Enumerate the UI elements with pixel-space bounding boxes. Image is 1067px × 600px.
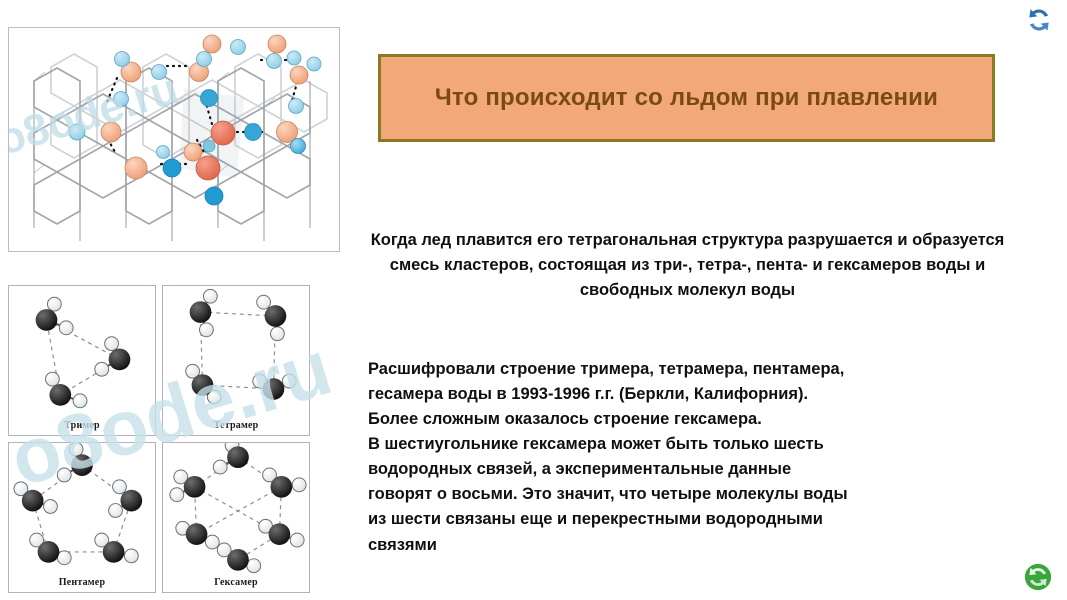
details-line: связями (368, 533, 1008, 558)
cluster-caption-hexamer: Гексамер (163, 577, 309, 588)
details-line: говорят о восьми. Это значит, что четыре… (368, 482, 1008, 507)
cluster-caption-trimer: Тример (9, 420, 155, 431)
water-cluster-grid: Тример (8, 285, 310, 593)
details-line: Расшифровали строение тримера, тетрамера… (368, 357, 1008, 382)
sync-icon[interactable] (1023, 4, 1055, 36)
cluster-panel-hexamer: Гексамер (162, 442, 310, 593)
cluster-panel-trimer: Тример (8, 285, 156, 436)
tetramer-diagram (163, 286, 309, 417)
intro-paragraph: Когда лед плавится его тетрагональная ст… (365, 228, 1010, 302)
cluster-panel-tetramer: Тетрамер (162, 285, 310, 436)
details-line: гесамера воды в 1993-1996 г.г. (Беркли, … (368, 382, 1008, 407)
cluster-caption-pentamer: Пентамер (9, 577, 155, 588)
ice-lattice-figure: o8ode.ru (8, 27, 340, 252)
page-title: Что происходит со льдом при плавлении (435, 85, 938, 111)
title-banner: Что происходит со льдом при плавлении (378, 54, 995, 142)
details-line: водородных связей, а экспериментальные д… (368, 457, 1008, 482)
ice-lattice-svg (9, 28, 339, 251)
details-line: Более сложным оказалось строение гексаме… (368, 407, 1008, 432)
recycle-icon[interactable] (1023, 562, 1053, 592)
cluster-caption-tetramer: Тетрамер (163, 420, 309, 431)
details-line: В шестиугольнике гексамера может быть то… (368, 432, 1008, 457)
details-paragraph: Расшифровали строение тримера, тетрамера… (368, 357, 1008, 558)
cluster-panel-pentamer: Пентамер (8, 442, 156, 593)
trimer-diagram (9, 286, 155, 417)
slide-canvas: o8ode.ru (0, 0, 1067, 600)
details-line: из шести связаны еще и перекрестными вод… (368, 507, 1008, 532)
hexamer-diagram (163, 443, 309, 574)
pentamer-diagram (9, 443, 155, 574)
